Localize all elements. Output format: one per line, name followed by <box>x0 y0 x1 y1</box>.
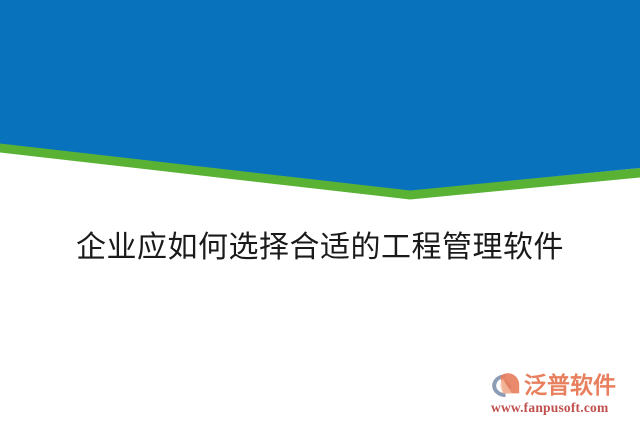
fanpu-logo-icon-graphic <box>490 372 521 398</box>
brand-logo-url: www.fanpusoft.com <box>490 400 630 416</box>
page-title-text: 企业应如何选择合适的工程管理软件 <box>76 228 564 268</box>
chevron-banner <box>0 0 640 205</box>
brand-logo-name: 泛普软件 <box>524 372 616 398</box>
chevron-banner-graphic <box>0 0 640 205</box>
fanpu-logo-icon <box>490 372 521 398</box>
brand-logo-row: 泛普软件 <box>490 370 630 400</box>
slide-canvas: 企业应如何选择合适的工程管理软件 泛普软件 www.fanpusoft.com <box>0 0 640 427</box>
brand-logo: 泛普软件 www.fanpusoft.com <box>490 370 630 418</box>
page-title: 企业应如何选择合适的工程管理软件 <box>0 228 640 268</box>
